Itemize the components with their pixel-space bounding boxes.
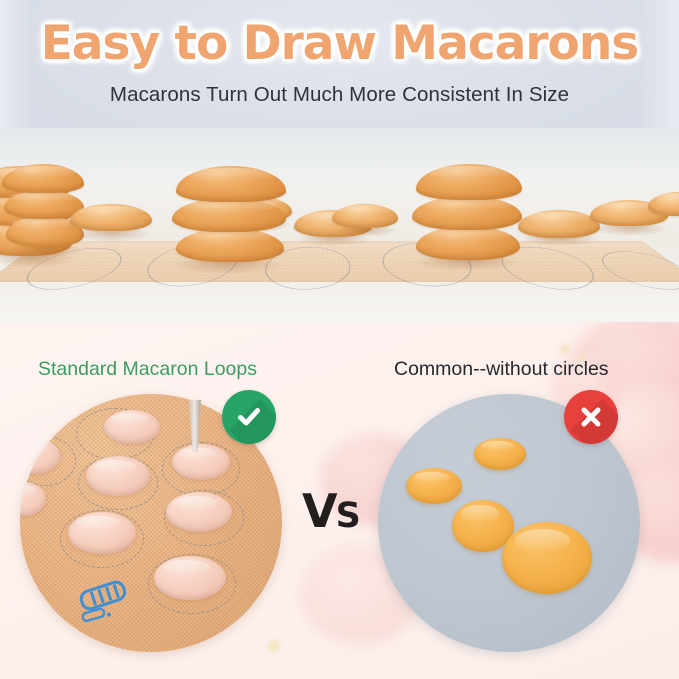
vs-letter-s: S — [336, 496, 359, 536]
header-band: Easy to Draw Macarons Macarons Turn Out … — [0, 0, 679, 128]
right-option-label: Common--without circles — [394, 358, 609, 381]
macaron-shell — [412, 196, 522, 230]
uneven-batter-blob — [406, 468, 462, 504]
macaron-batter-round — [172, 444, 230, 480]
left-comparison-figure — [20, 394, 288, 656]
page-title: Easy to Draw Macarons — [0, 16, 679, 72]
comparison-panel: Standard Macaron Loops Common--without c… — [0, 322, 679, 679]
macaron-shell — [648, 192, 679, 216]
hero-photo — [0, 128, 679, 322]
status-badge-incorrect — [564, 390, 618, 444]
macaron-shell — [332, 204, 398, 228]
macaron-shell — [518, 210, 600, 238]
macaron-shell — [70, 204, 152, 231]
left-option-label: Standard Macaron Loops — [38, 358, 257, 381]
macaron-shell — [176, 166, 286, 202]
macaron-batter-round — [68, 512, 136, 554]
macaron-shell — [176, 228, 284, 262]
macaron-shell — [172, 198, 286, 232]
silicone-baking-mat — [0, 241, 679, 282]
macaron-shell — [416, 164, 522, 200]
uneven-batter-blob — [502, 522, 592, 594]
macaron-shell — [2, 164, 84, 193]
uneven-batter-blob — [474, 438, 526, 470]
product-infographic: Easy to Draw Macarons Macarons Turn Out … — [0, 0, 679, 679]
vs-separator: VS — [302, 488, 359, 534]
macaron-batter-round — [154, 556, 226, 600]
background-speck — [560, 344, 570, 354]
macaron-batter-round — [104, 410, 160, 444]
macaron-shell — [416, 226, 520, 260]
check-icon — [234, 402, 264, 432]
macaron-batter-round — [166, 492, 232, 532]
cross-icon — [576, 402, 606, 432]
status-badge-correct — [222, 390, 276, 444]
vs-letter-v: V — [302, 484, 336, 538]
macaron-batter-round — [86, 456, 150, 496]
page-subtitle: Macarons Turn Out Much More Consistent I… — [0, 83, 679, 107]
right-comparison-figure — [378, 394, 650, 656]
photo-background-wall — [0, 128, 679, 190]
